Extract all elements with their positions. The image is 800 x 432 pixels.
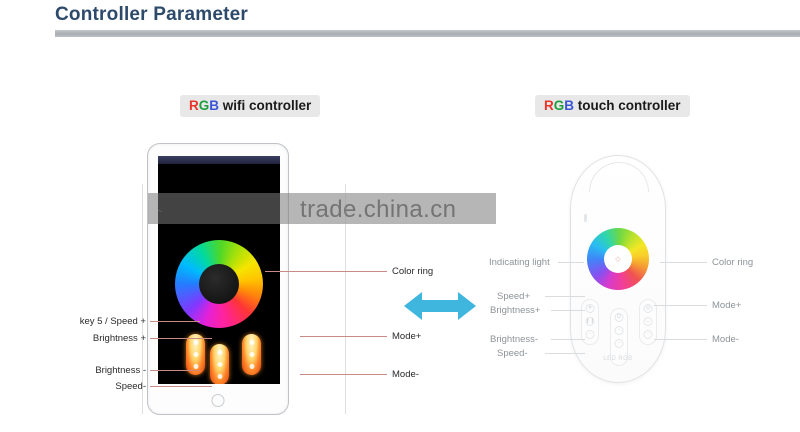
leader-line bbox=[150, 370, 200, 371]
leader-line bbox=[300, 374, 387, 375]
callout-brightness-plus-right: Brightness+ bbox=[490, 305, 540, 316]
rgb-letter-b: B bbox=[209, 98, 219, 113]
leader-line bbox=[150, 386, 212, 387]
tablet-device bbox=[147, 143, 289, 415]
callout-mode-plus-right: Mode+ bbox=[712, 300, 741, 311]
mode-minus-icon[interactable]: ◦ bbox=[644, 330, 653, 339]
leader-line bbox=[150, 338, 212, 339]
pill-dot-icon bbox=[193, 364, 198, 369]
callout-mode-plus-left: Mode+ bbox=[392, 331, 421, 342]
rgb-letter-b-2: B bbox=[564, 98, 574, 113]
pill-button-left[interactable] bbox=[186, 334, 205, 375]
leader-line bbox=[551, 310, 585, 311]
title-divider bbox=[55, 30, 800, 37]
power-icon[interactable]: ⏻ bbox=[615, 313, 624, 322]
pill-dot-icon bbox=[217, 362, 222, 367]
rgb-letter-r-2: R bbox=[544, 98, 554, 113]
remote-brand-logo: LED RGB bbox=[603, 356, 632, 362]
mode-mid-icon[interactable]: ↔ bbox=[644, 317, 653, 326]
pill-dot-icon bbox=[249, 340, 254, 345]
callout-speed-minus-right: Speed- bbox=[497, 348, 528, 359]
indicating-light-icon bbox=[584, 214, 587, 222]
callout-speed-plus-right: Speed+ bbox=[497, 291, 530, 302]
speed-up-icon[interactable]: ❙❙ bbox=[586, 317, 595, 326]
leader-line bbox=[300, 336, 387, 337]
touch-remote-device: ◇ ☀ ❙❙ ◦ ⏻ ◦ ◦ ◎ ↔ ◦ LED RGB bbox=[570, 155, 666, 383]
callout-brightness-plus: Brightness + bbox=[42, 333, 146, 344]
callout-brightness-minus: Brightness - bbox=[42, 365, 146, 376]
leader-line bbox=[150, 321, 200, 322]
pill-dot-icon bbox=[217, 374, 222, 379]
leader-line bbox=[654, 305, 707, 306]
leader-line bbox=[660, 262, 707, 263]
rgb-letter-g: G bbox=[199, 98, 210, 113]
leader-line bbox=[545, 353, 585, 354]
brightness-down-icon[interactable]: ◦ bbox=[586, 330, 595, 339]
callout-indicating-light: Indicating light bbox=[489, 257, 550, 268]
callout-brightness-minus-right: Brightness- bbox=[490, 334, 538, 345]
watermark-bar bbox=[142, 184, 143, 414]
remote-color-ring[interactable]: ◇ bbox=[587, 228, 649, 290]
pill-dot-icon bbox=[217, 350, 222, 355]
mode-plus-icon[interactable]: ◎ bbox=[644, 304, 653, 313]
callout-color-ring-right: Color ring bbox=[712, 257, 753, 268]
watermark-bar bbox=[345, 184, 346, 414]
pill-dot-icon bbox=[193, 340, 198, 345]
rgb-letter-r: R bbox=[189, 98, 199, 113]
watermark-text: trade.china.cn bbox=[300, 196, 456, 224]
callout-mode-minus-left: Mode- bbox=[392, 369, 419, 380]
caption-wifi-controller: RGB wifi controller bbox=[180, 95, 320, 117]
leader-line bbox=[558, 262, 584, 263]
pill-dot-icon bbox=[249, 364, 254, 369]
pill-button-middle[interactable] bbox=[210, 344, 229, 384]
caption-touch-text: touch controller bbox=[574, 98, 681, 113]
pill-dot-icon bbox=[193, 352, 198, 357]
mode-dot-icon[interactable]: ◦ bbox=[615, 326, 624, 335]
screen-status-bar bbox=[158, 156, 280, 164]
callout-key5-speed-plus: key 5 / Speed + bbox=[42, 316, 146, 327]
page-root: Controller Parameter RGB wifi controller… bbox=[0, 0, 800, 432]
page-title: Controller Parameter bbox=[55, 4, 248, 26]
tablet-screen bbox=[158, 156, 280, 384]
caption-wifi-text: wifi controller bbox=[219, 98, 311, 113]
remote-top-arc bbox=[589, 162, 649, 192]
color-ring-wheel[interactable] bbox=[175, 240, 263, 328]
remote-wheel-center-icon: ◇ bbox=[615, 255, 620, 263]
callout-speed-minus: Speed- bbox=[42, 381, 146, 392]
callout-mode-minus-right: Mode- bbox=[712, 334, 739, 345]
pill-button-right[interactable] bbox=[242, 334, 261, 375]
pill-dot-icon bbox=[249, 352, 254, 357]
leader-line bbox=[545, 296, 585, 297]
brightness-up-icon[interactable]: ☀ bbox=[586, 304, 595, 313]
callout-color-ring-left: Color ring bbox=[392, 266, 433, 277]
caption-touch-controller: RGB touch controller bbox=[535, 95, 690, 117]
tablet-home-button[interactable] bbox=[212, 394, 225, 407]
rgb-letter-g-2: G bbox=[554, 98, 565, 113]
bidirectional-arrow-icon bbox=[404, 289, 476, 328]
mode-dot-icon-2[interactable]: ◦ bbox=[615, 339, 624, 348]
leader-line bbox=[654, 339, 707, 340]
leader-line bbox=[265, 271, 387, 272]
leader-line bbox=[551, 339, 585, 340]
